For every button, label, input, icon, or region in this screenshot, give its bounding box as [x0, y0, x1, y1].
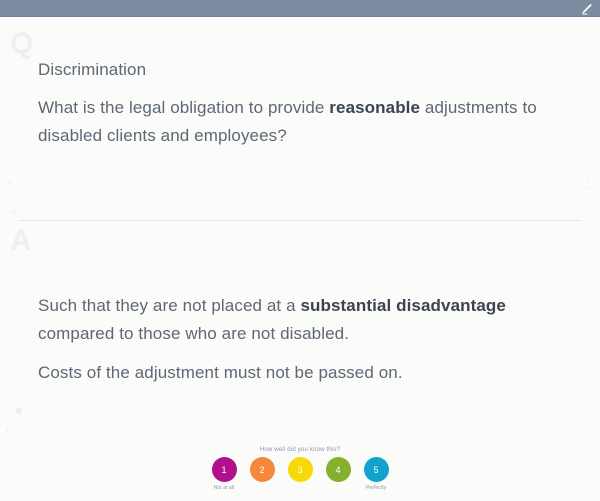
rating-dot-5[interactable]: 5 — [364, 457, 389, 482]
rating-label-1: Not at all — [214, 485, 235, 492]
rating-prompt: How well did you know this? — [260, 447, 340, 453]
question-section: Discrimination What is the legal obligat… — [38, 60, 558, 149]
answer-marker: A — [10, 226, 32, 256]
rating-dot-4[interactable]: 4 — [326, 457, 351, 482]
rating-label-5: Perfectly — [366, 485, 386, 492]
question-topic: Discrimination — [38, 60, 558, 80]
corner-tick-bottom-left: ▦ — [15, 407, 23, 415]
corner-tick-top-left: ▪ — [8, 180, 10, 187]
question-marker: Q — [10, 29, 33, 59]
corner-tick-bottom-left-secondary: ▪ — [6, 427, 8, 434]
answer-text-post: compared to those who are not disabled. — [38, 324, 349, 343]
rating-dot-3[interactable]: 3 — [288, 457, 313, 482]
qa-divider — [19, 220, 581, 221]
rating-dot-1[interactable]: 1 — [212, 457, 237, 482]
answer-text-pre: Such that they are not placed at a — [38, 296, 300, 315]
answer-paragraph-2: Costs of the adjustment must not be pass… — [38, 359, 568, 387]
pencil-icon[interactable] — [579, 3, 593, 15]
rating-option-3[interactable]: 3 — [287, 457, 313, 492]
rating-dot-2[interactable]: 2 — [250, 457, 275, 482]
flashcard: Q A ▪ ▪ ▪ ▪ ▦ ▪ Discrimination What is t… — [0, 17, 600, 501]
answer-paragraph-1: Such that they are not placed at a subst… — [38, 292, 568, 347]
top-bar — [0, 0, 600, 17]
answer-section: Such that they are not placed at a subst… — [38, 292, 568, 387]
question-text-bold: reasonable — [329, 98, 420, 117]
question-text: What is the legal obligation to provide … — [38, 94, 558, 149]
question-text-pre: What is the legal obligation to provide — [38, 98, 329, 117]
rating-option-4[interactable]: 4 — [325, 457, 351, 492]
rating-footer: How well did you know this? 1Not at all2… — [0, 445, 600, 501]
answer-text-bold: substantial disadvantage — [300, 296, 506, 315]
rating-option-5[interactable]: 5Perfectly — [363, 457, 389, 492]
divider-tick: ▪ — [12, 209, 15, 217]
rating-option-2[interactable]: 2 — [249, 457, 275, 492]
corner-tick-top-right-secondary: ▪ — [586, 185, 588, 192]
answer-text: Such that they are not placed at a subst… — [38, 292, 568, 387]
corner-tick-top-right: ▪ — [588, 176, 590, 183]
rating-scale: 1Not at all2345Perfectly — [211, 457, 389, 492]
rating-option-1[interactable]: 1Not at all — [211, 457, 237, 492]
